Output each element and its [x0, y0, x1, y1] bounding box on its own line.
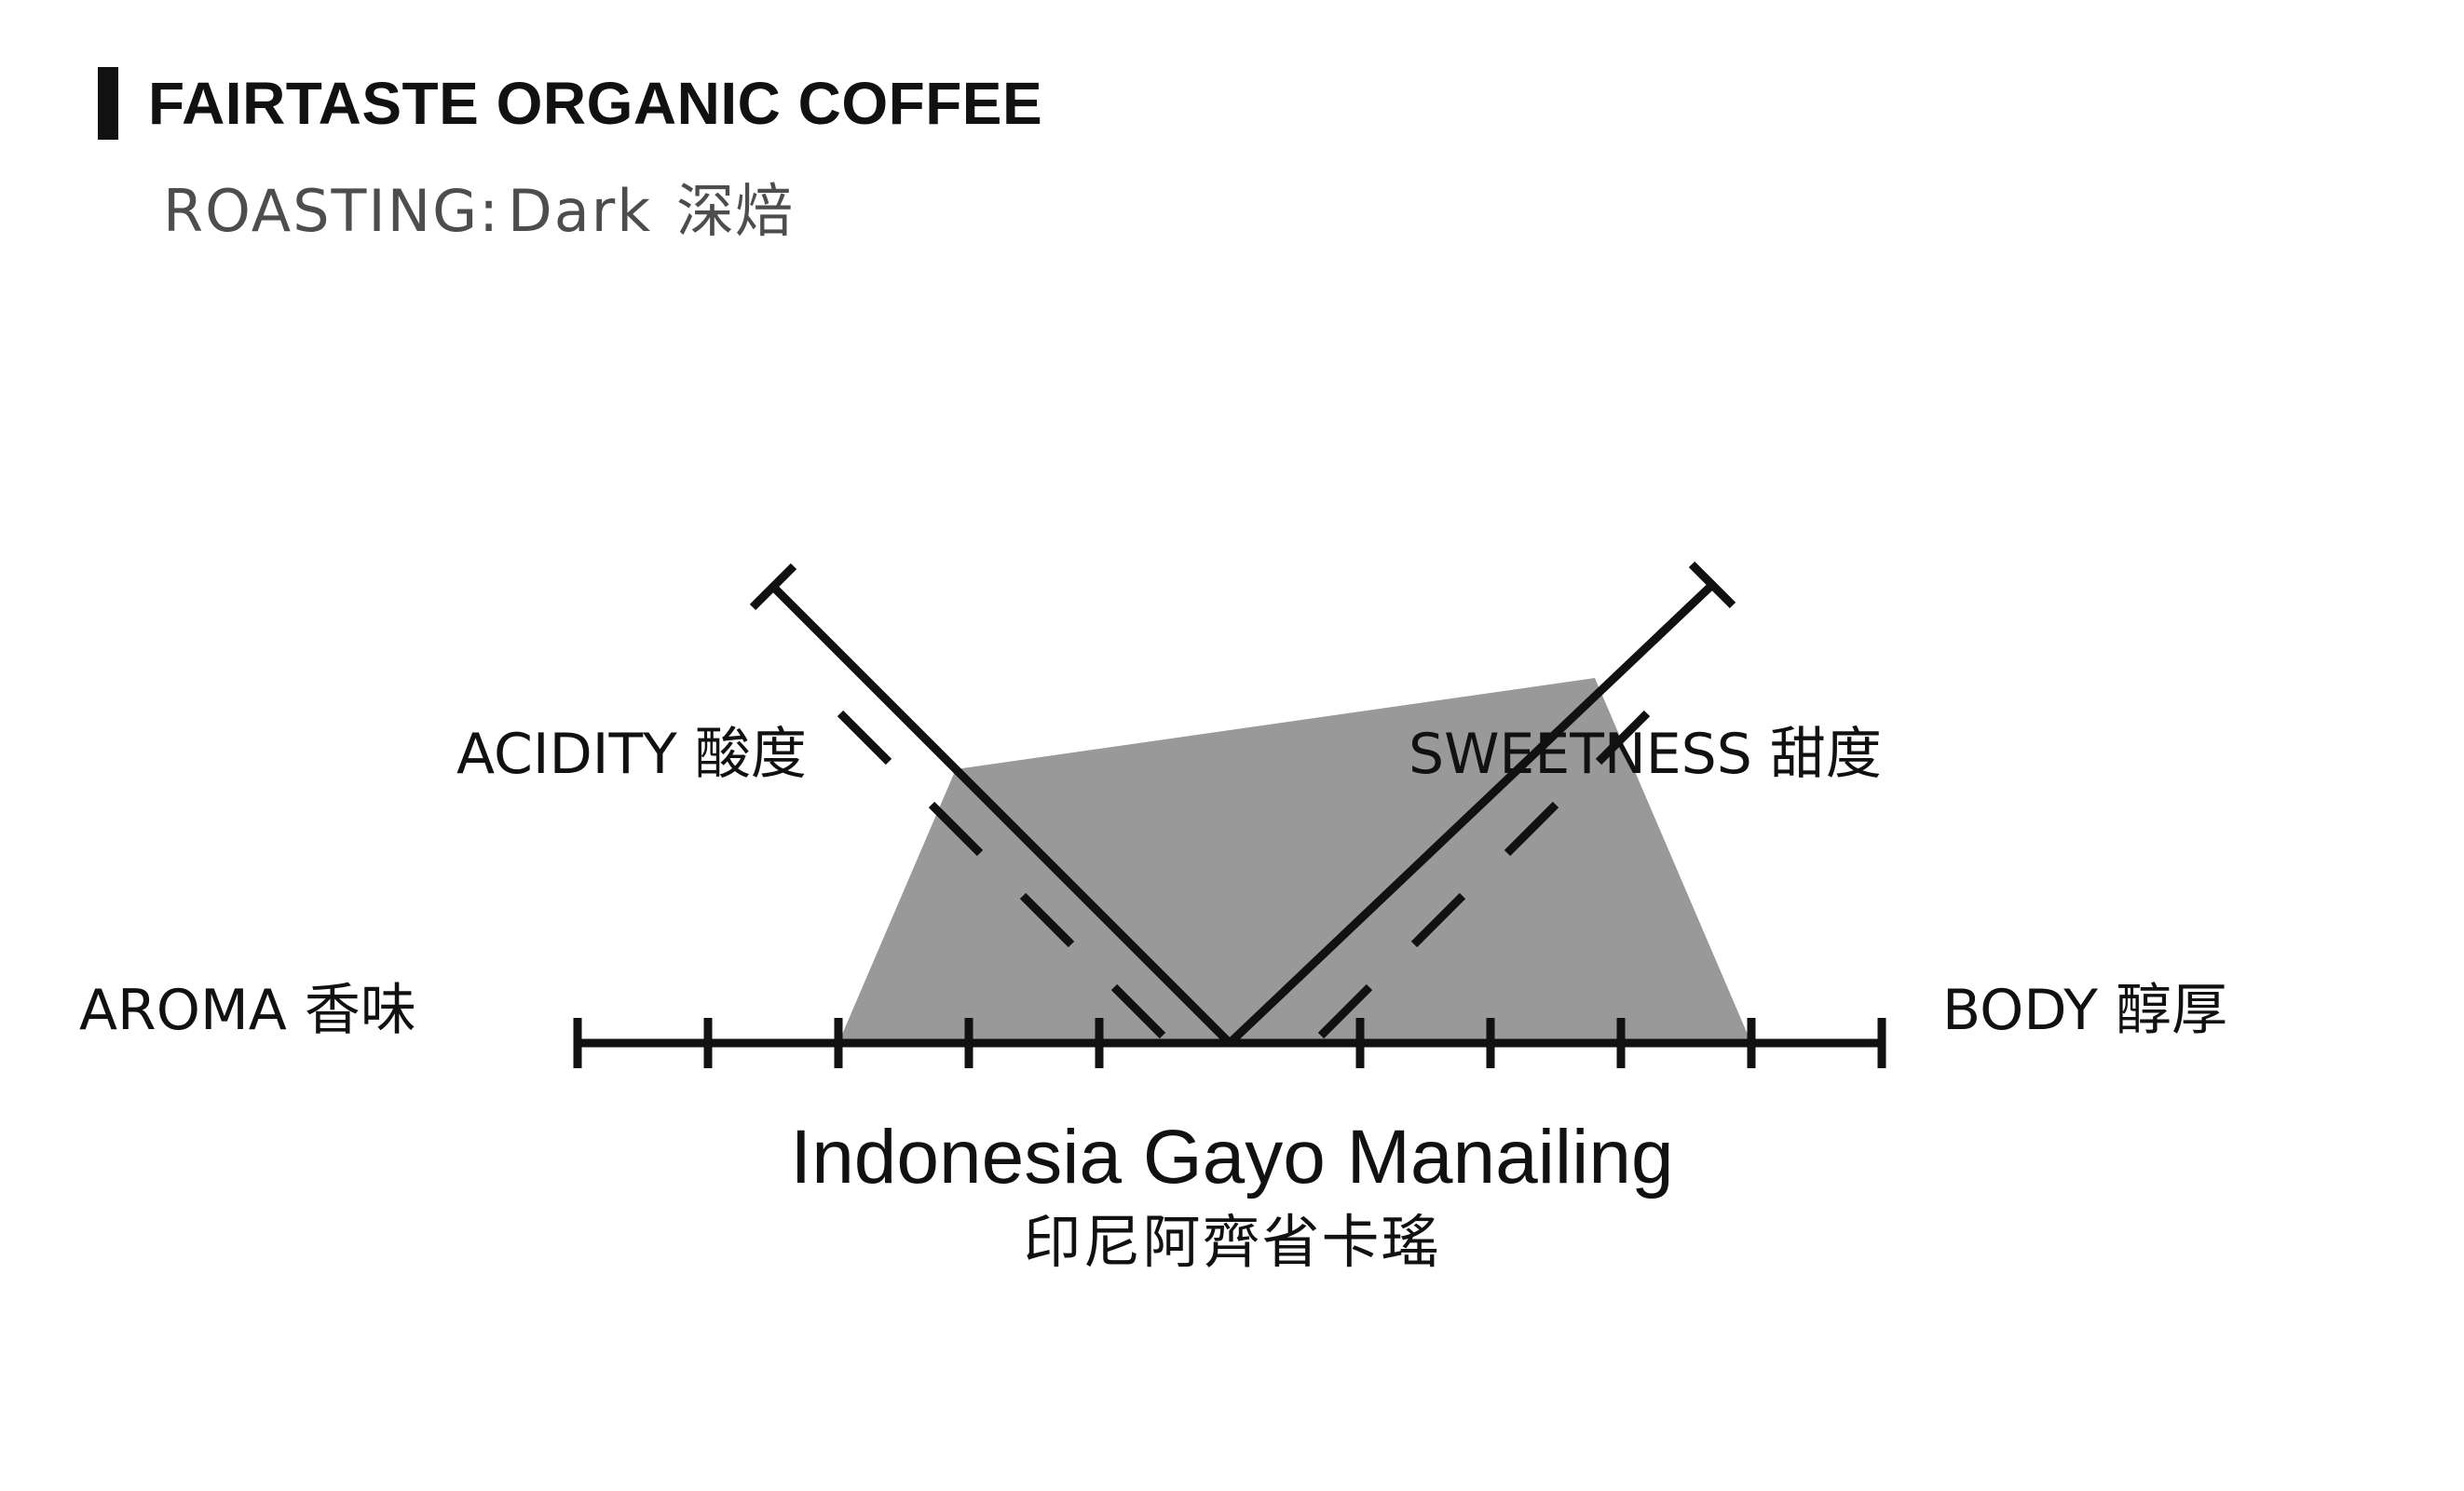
axis-label-aroma: AROMA 香味: [79, 983, 416, 1038]
axis-label-sweetness: SWEETNESS 甜度: [1409, 726, 1882, 782]
tick-acidity-4: [840, 713, 889, 762]
axis-label-body: BODY 醇厚: [1942, 983, 2227, 1038]
coffee-origin-name-cn: 印尼阿齊省卡瑤: [0, 1211, 2464, 1274]
roasting-value-cn: 深焙: [676, 183, 794, 240]
brand-accent-bar: [98, 67, 118, 140]
brand-row: FAIRTASTE ORGANIC COFFEE: [98, 67, 1042, 140]
coffee-origin-name: Indonesia Gayo Manailing: [0, 1118, 2464, 1198]
roasting-label: ROASTING:: [163, 183, 500, 240]
roasting-value: Dark: [508, 183, 652, 240]
footer: Indonesia Gayo Manailing 印尼阿齊省卡瑤: [0, 1118, 2464, 1274]
page-title: FAIRTASTE ORGANIC COFFEE: [148, 74, 1042, 133]
roasting-info: ROASTING: Dark 深焙: [163, 183, 794, 240]
axis-label-acidity: ACIDITY 酸度: [456, 726, 807, 782]
